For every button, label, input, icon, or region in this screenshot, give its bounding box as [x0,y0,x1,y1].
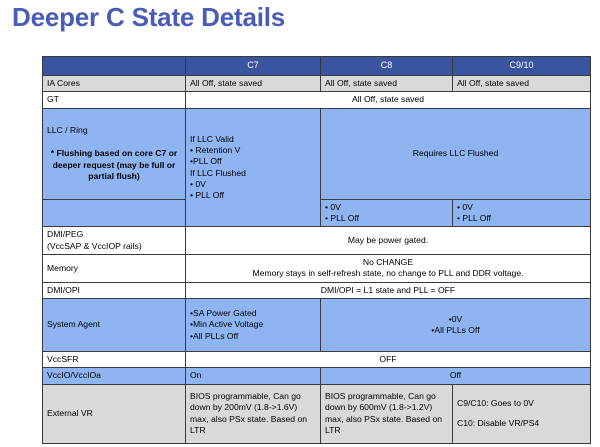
cell-system-agent-c7: •SA Power Gated •Min Active Voltage •All… [186,299,321,352]
row-label-llc-ring-text: LLC / Ring [47,125,181,136]
cell-memory-all: No CHANGE Memory stays in self-refresh s… [186,255,591,283]
column-header-blank [43,57,186,76]
sa-rest-line-2: •All PLLs Off [325,325,586,336]
row-label-dmi-opi: DMI/OPI [43,282,186,298]
row-label-gt: GT [43,92,186,108]
sa-c7-line-2: •Min Active Voltage [190,319,316,330]
cell-llc-c910-bullets: • 0V • PLL Off [453,199,591,227]
row-label-ia-cores: IA Cores [43,76,186,92]
table-header-row: C7 C8 C9/10 [43,57,591,76]
row-label-llc-ring: LLC / Ring * Flushing based on core C7 o… [43,108,186,199]
cell-llc-requires-flushed-header: Requires LLC Flushed [321,108,591,199]
table-row-memory: Memory No CHANGE Memory stays in self-re… [43,255,591,283]
cell-vccsfr-all: OFF [186,352,591,368]
cell-vccio-c7: On [186,368,321,384]
cell-ia-cores-c7: All Off, state saved [186,76,321,92]
cell-dmi-peg-all: May be power gated. [186,227,591,255]
cell-vccio-rest: Off [321,368,591,384]
row-label-system-agent: System Agent [43,299,186,352]
llc-c8-line-1: • 0V [325,202,448,213]
table-row-ia-cores: IA Cores All Off, state saved All Off, s… [43,76,591,92]
row-label-vccio: VccIO/VccIOa [43,368,186,384]
column-header-c910: C9/10 [453,57,591,76]
llc-c7-line-2: • Retention V [190,145,316,156]
table-header: C7 C8 C9/10 [43,57,591,76]
llc-c8-line-2: • PLL Off [325,213,448,224]
dmi-peg-label-line-2: (VccSAP & VccIOP rails) [47,241,181,252]
c-state-details-table: C7 C8 C9/10 IA Cores All Off, state save… [42,56,591,444]
page-title: Deeper C State Details [12,2,285,33]
llc-c7-line-1: If LLC Valid [190,134,316,145]
table-row-dmi-opi: DMI/OPI DMI/OPI = L1 state and PLL = OFF [43,282,591,298]
cell-ia-cores-c8: All Off, state saved [321,76,453,92]
sa-c7-line-3: •All PLLs Off [190,331,316,342]
column-header-c8: C8 [321,57,453,76]
llc-c910-line-1: • 0V [457,202,586,213]
cell-external-vr-c8: BIOS programmable, Can go down by 600mV … [321,384,453,443]
row-label-dmi-peg: DMI/PEG (VccSAP & VccIOP rails) [43,227,186,255]
cell-system-agent-rest: •0V •All PLLs Off [321,299,591,352]
row-label-external-vr: External VR [43,384,186,443]
evr-c910-line-2: C10: Disable VR/PS4 [457,418,586,429]
row-label-vccsfr: VccSFR [43,352,186,368]
table-row-llc-ring: LLC / Ring * Flushing based on core C7 o… [43,108,591,199]
cell-dmi-opi-all: DMI/OPI = L1 state and PLL = OFF [186,282,591,298]
evr-c910-spacer [457,409,586,418]
slide-canvas: Deeper C State Details C7 C8 C9/10 IA Co… [0,0,600,447]
table-row-gt: GT All Off, state saved [43,92,591,108]
cell-external-vr-c7: BIOS programmable, Can go down by 200mV … [186,384,321,443]
sa-rest-line-1: •0V [325,314,586,325]
llc-c7-line-5: • 0V [190,179,316,190]
memory-line-1: No CHANGE [190,257,586,268]
evr-c910-line-1: C9/C10: Goes to 0V [457,398,586,409]
table-row-vccsfr: VccSFR OFF [43,352,591,368]
sa-c7-line-1: •SA Power Gated [190,308,316,319]
cell-ia-cores-c910: All Off, state saved [453,76,591,92]
llc-c7-line-4: If LLC Flushed [190,168,316,179]
llc-c7-line-3: •PLL Off [190,156,316,167]
llc-ring-footnote: * Flushing based on core C7 or deeper re… [47,148,181,183]
cell-gt-all: All Off, state saved [186,92,591,108]
llc-c7-line-6: • PLL Off [190,190,316,201]
table-body: IA Cores All Off, state saved All Off, s… [43,76,591,444]
dmi-peg-label-line-1: DMI/PEG [47,229,181,240]
cell-llc-ring-c7: If LLC Valid • Retention V •PLL Off If L… [186,108,321,227]
column-header-c7: C7 [186,57,321,76]
row-label-llc-ring-spacer [43,199,186,227]
llc-c910-line-2: • PLL Off [457,213,586,224]
table-row-system-agent: System Agent •SA Power Gated •Min Active… [43,299,591,352]
cell-external-vr-c910: C9/C10: Goes to 0V C10: Disable VR/PS4 [453,384,591,443]
table-row-dmi-peg: DMI/PEG (VccSAP & VccIOP rails) May be p… [43,227,591,255]
row-label-memory: Memory [43,255,186,283]
memory-line-2: Memory stays in self-refresh state, no c… [190,268,586,279]
table-row-vccio: VccIO/VccIOa On Off [43,368,591,384]
cell-llc-c8-bullets: • 0V • PLL Off [321,199,453,227]
table-row-external-vr: External VR BIOS programmable, Can go do… [43,384,591,443]
